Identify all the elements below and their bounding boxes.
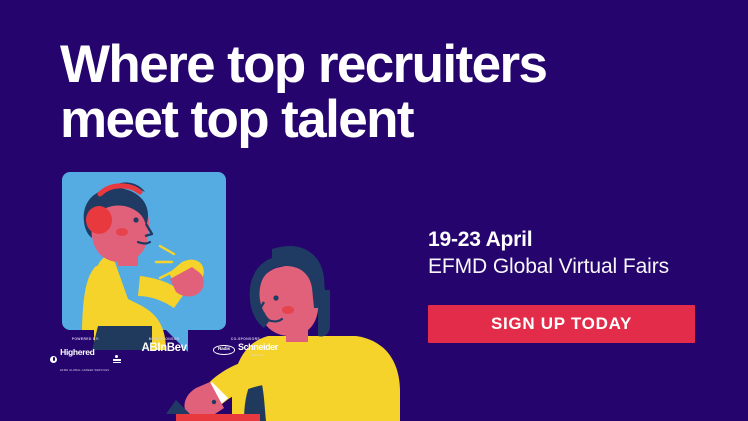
sponsor-group-powered-by: POWERED BY: Highered EFMD GLOBAL CAREER … [48, 337, 123, 375]
radis-logo: Radis [213, 345, 235, 355]
event-info: 19-23 April EFMD Global Virtual Fairs [428, 228, 718, 280]
sponsor-group-label: CO-SPONSORS [231, 337, 260, 341]
schneider-electric-logo: Schneider Electric [238, 343, 278, 357]
highered-logo-icon [50, 356, 57, 363]
sign-up-button[interactable]: SIGN UP TODAY [428, 305, 695, 343]
sponsor-group-co-sponsors: CO-SPONSORS Radis Schneider Electric [205, 337, 286, 357]
promo-banner: Where top recruiters meet top talent [0, 0, 748, 421]
event-dates: 19-23 April [428, 228, 718, 252]
sponsor-strip: POWERED BY: Highered EFMD GLOBAL CAREER … [48, 337, 286, 363]
headline: Where top recruiters meet top talent [60, 38, 680, 147]
highered-logo: Highered EFMD GLOBAL CAREER SERVICES [60, 343, 109, 375]
illustration [0, 150, 400, 421]
sponsor-group-label: MAIN SPONSOR [149, 337, 180, 341]
headline-line-2: meet top talent [60, 93, 680, 148]
abinbev-logo: ABInBev [142, 343, 187, 355]
headline-line-1: Where top recruiters [60, 35, 546, 94]
event-name: EFMD Global Virtual Fairs [428, 253, 718, 280]
sponsor-group-label: POWERED BY: [72, 337, 100, 341]
sponsor-group-main-sponsor: MAIN SPONSOR ABInBev [129, 337, 199, 355]
efmd-logo-icon [112, 354, 121, 365]
